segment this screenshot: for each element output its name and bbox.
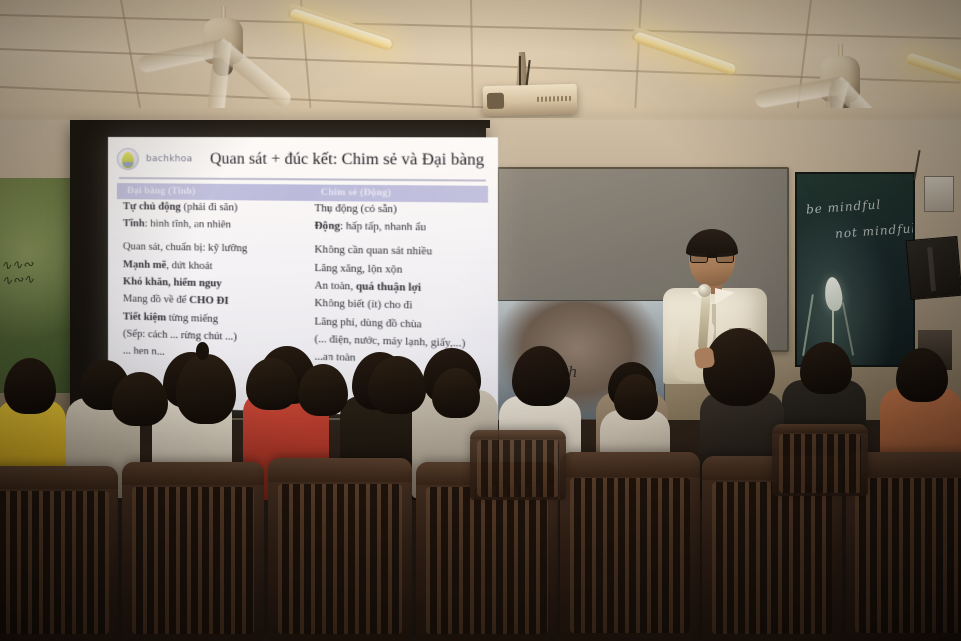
ceiling-projector xyxy=(483,84,578,116)
chair xyxy=(772,424,868,496)
presenter-hand xyxy=(694,347,716,369)
chair xyxy=(470,430,566,500)
ceiling-fan xyxy=(178,6,268,80)
poster-left-calligraphy: ∿∿∾∿∾∿ xyxy=(0,256,73,320)
ceiling-fan xyxy=(795,44,885,118)
slide-header: bachkhoa Quan sát + đúc kết: Chim sẻ và … xyxy=(117,143,488,177)
poster-reed xyxy=(842,302,854,355)
title-divider xyxy=(119,177,486,181)
cell-right: Thụ động (có sẵn) xyxy=(298,200,488,220)
comparison-table: Đại bàng (Tĩnh) Chim sẻ (Động) Tự chủ độ… xyxy=(117,183,488,373)
chair xyxy=(0,466,118,641)
wall-speaker xyxy=(905,236,961,300)
chair xyxy=(268,458,412,641)
projector-lens xyxy=(487,93,504,109)
electrical-box xyxy=(924,176,954,212)
lecture-hall-scene: ∿∿∾∿∾∿ anh th be mindful not mindful bac… xyxy=(0,0,961,641)
chair xyxy=(122,462,264,641)
slide-title: Quan sát + đúc kết: Chim sẻ và Đại bàng xyxy=(210,150,484,170)
column-header-sparrow: Chim sẻ (Động) xyxy=(298,184,488,202)
microphone-head xyxy=(698,284,711,297)
logo-wordmark: bachkhoa xyxy=(146,154,193,164)
attendee-head xyxy=(176,354,236,424)
poster-line-1: be mindful xyxy=(806,197,882,216)
chair xyxy=(560,452,700,641)
projector-vents xyxy=(537,96,571,102)
cell-left: Tự chủ động (phải đi săn) xyxy=(117,199,298,219)
attendee-hair-bun xyxy=(196,342,209,360)
projector-cable xyxy=(519,56,521,88)
ceiling xyxy=(0,0,961,132)
lotus-bud-icon xyxy=(823,276,843,312)
attendee-head xyxy=(614,374,658,420)
bachkhoa-logo-icon xyxy=(117,148,139,170)
column-header-eagle: Đại bàng (Tĩnh) xyxy=(117,183,298,201)
poster-line-2: not mindful xyxy=(835,221,915,241)
eyeglasses-icon xyxy=(689,252,735,263)
fluorescent-tube-light xyxy=(633,31,737,76)
poster-right-mindful: be mindful not mindful xyxy=(795,172,915,367)
